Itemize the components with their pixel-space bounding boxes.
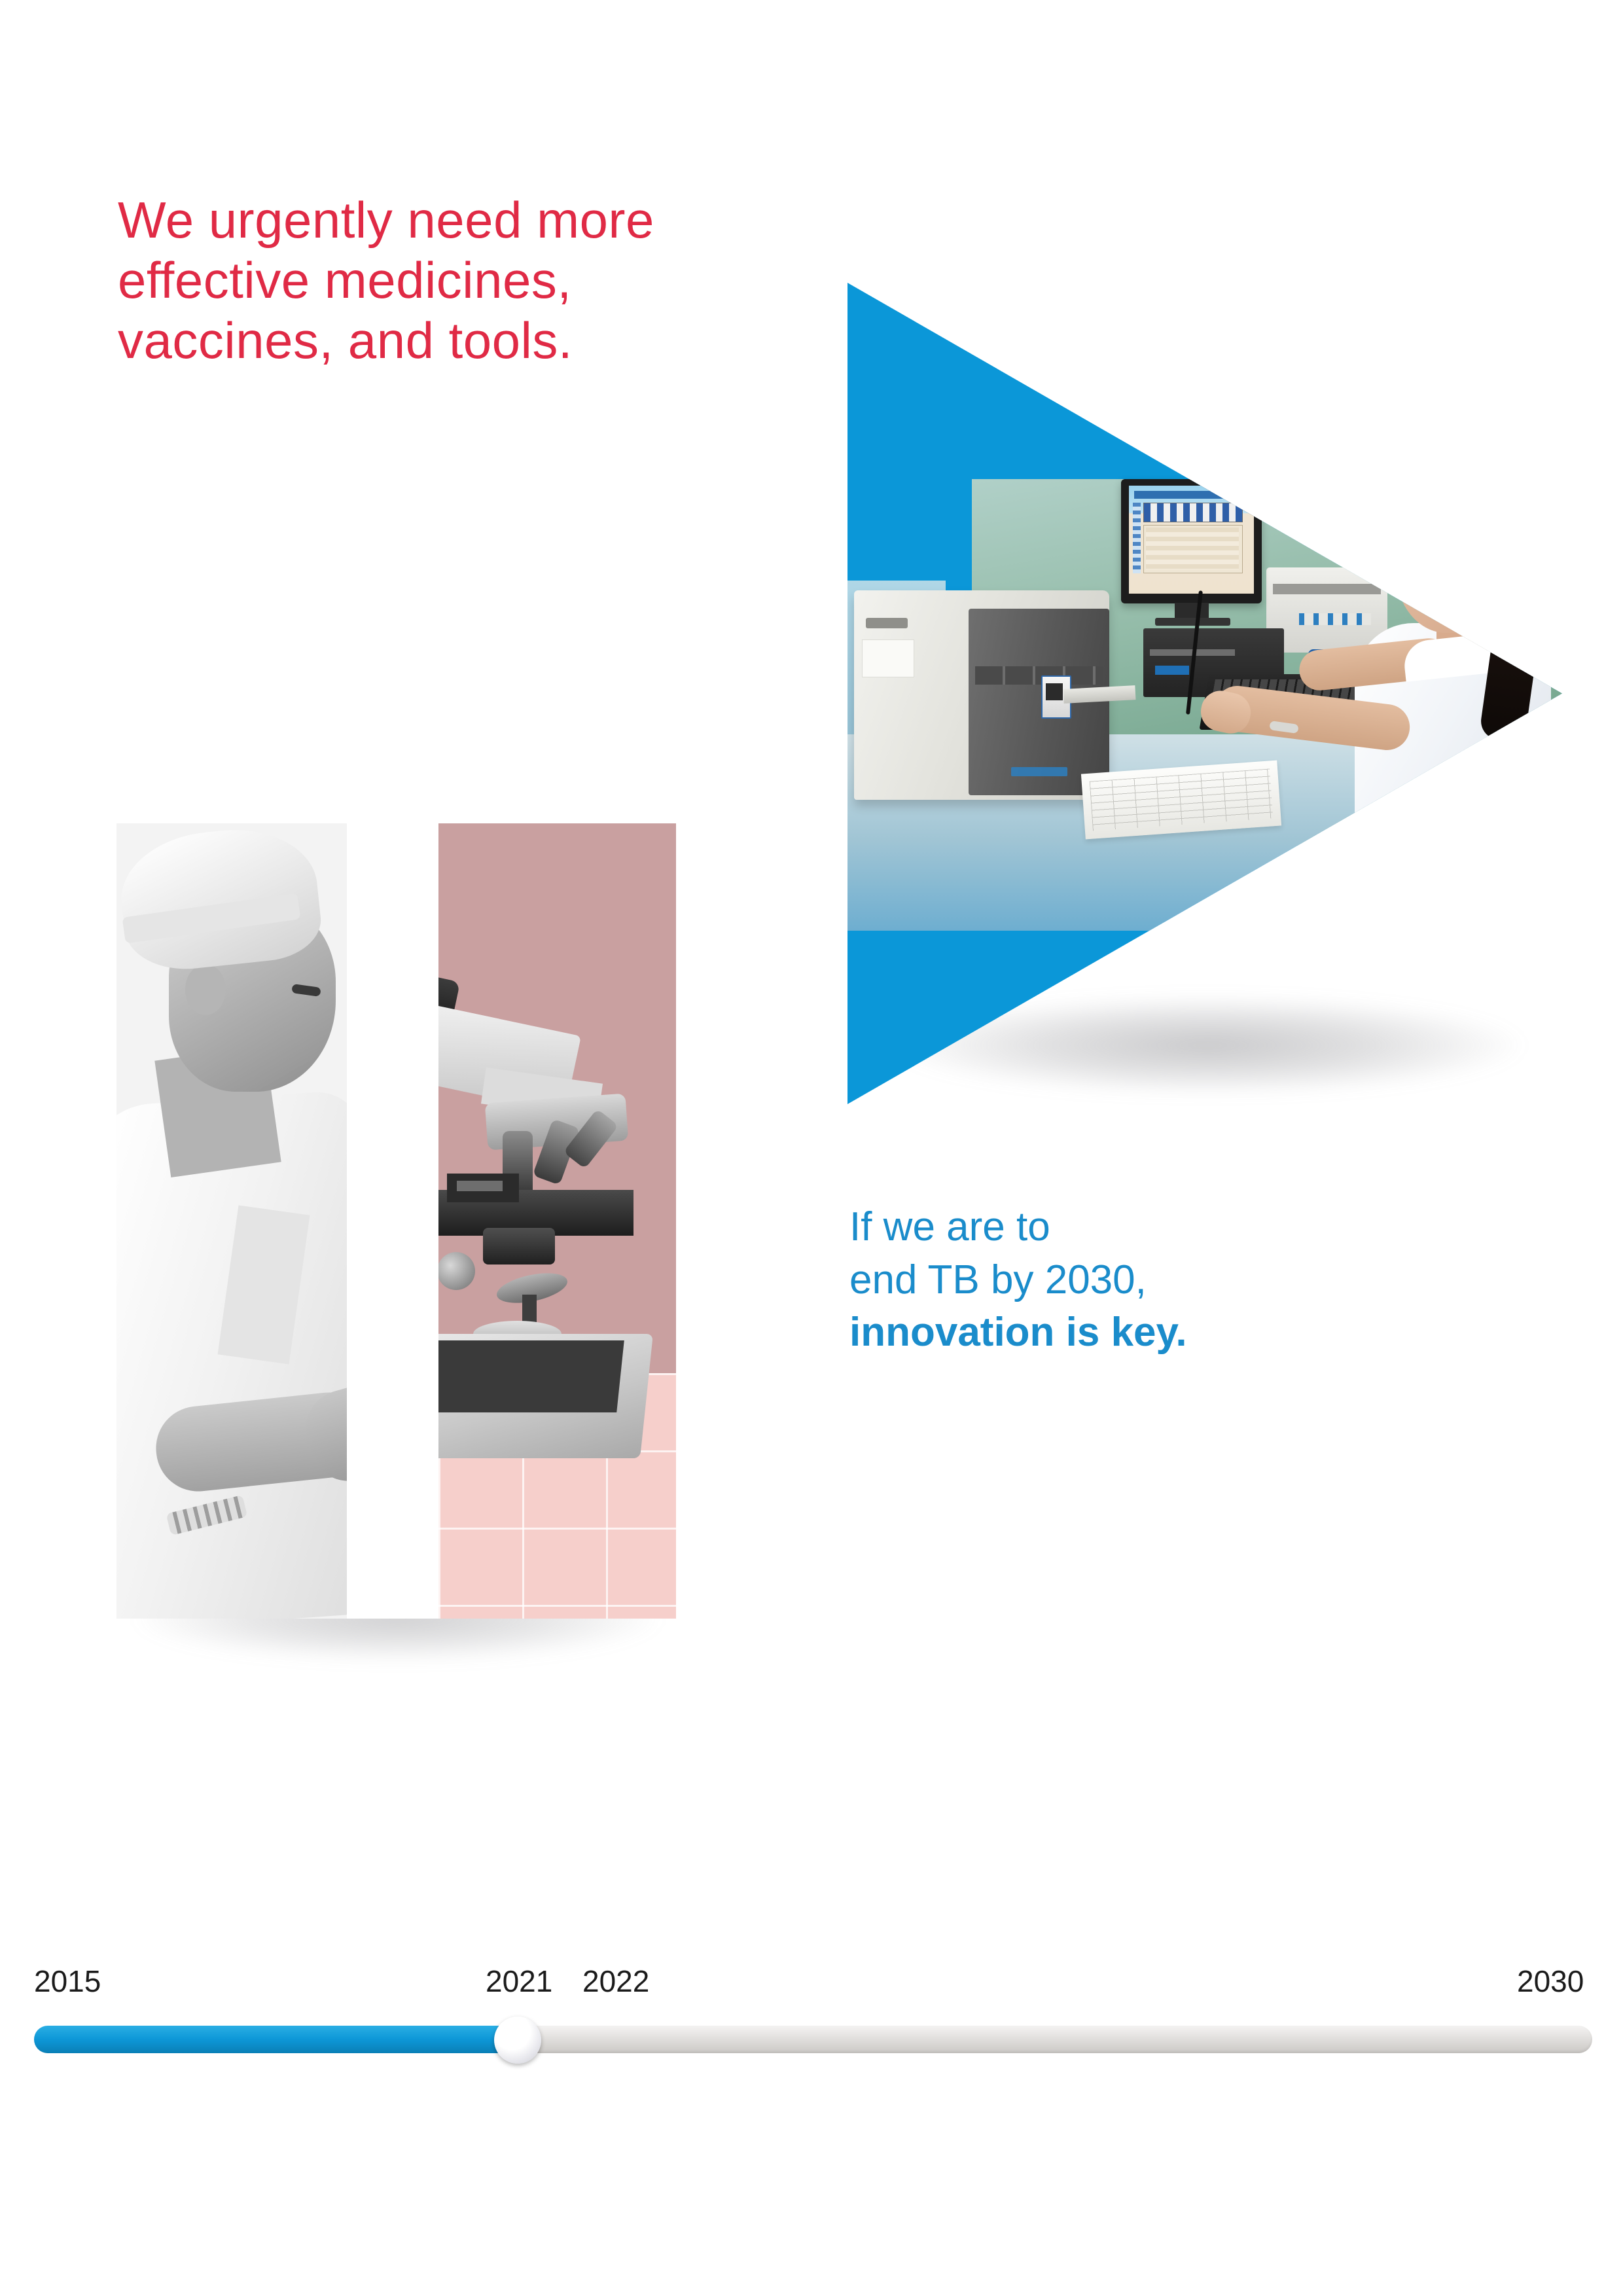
subheadline-line-1: If we are to <box>849 1201 1504 1254</box>
triangle-clip <box>847 283 1562 1104</box>
software-assay-grid <box>1143 503 1243 522</box>
monitor-base <box>1155 618 1230 626</box>
white-lower-strip <box>347 1527 438 1619</box>
genexpert-cartridge-slots <box>975 666 1103 685</box>
lab-technician-triangle-photo <box>847 283 1562 1104</box>
lab-scene <box>847 283 1562 1104</box>
software-sidebar <box>1133 503 1141 573</box>
headline-line-1: We urgently need more <box>118 190 838 250</box>
software-result-rows <box>1146 528 1239 569</box>
headline-line-3: vaccines, and tools. <box>118 310 838 370</box>
cartridge-barcode <box>1046 683 1063 700</box>
subheadline-line-3: innovation is key. <box>849 1306 1504 1359</box>
poster-canvas: We urgently need more effective medicine… <box>0 0 1623 2296</box>
timeline-progress-fill <box>34 2026 518 2053</box>
technician-hair <box>1388 479 1522 610</box>
slide-clip <box>457 1181 503 1191</box>
computer-badge <box>1155 666 1189 675</box>
timeline-labels: 2015 2021 2022 2030 <box>0 1964 1623 2081</box>
software-title-bar <box>1134 491 1249 499</box>
headline-line-2: effective medicines, <box>118 250 838 310</box>
technician-hair-front <box>1388 490 1460 550</box>
technician-ponytail <box>1478 543 1551 744</box>
microscope-photo-frame <box>116 823 347 1619</box>
subheadline: If we are to end TB by 2030, innovation … <box>849 1201 1504 1359</box>
health-worker-figure <box>116 823 347 1619</box>
worker-ear <box>185 964 226 1015</box>
page-title: We urgently need more effective medicine… <box>118 190 838 370</box>
printer-slot <box>1273 584 1381 594</box>
timeline-label-2030: 2030 <box>1517 1964 1584 1999</box>
genexpert-brand-mark <box>1011 767 1067 776</box>
focus-knob-small <box>437 1252 475 1290</box>
timeline-label-2015: 2015 <box>34 1964 101 1999</box>
timeline-slider-handle[interactable] <box>494 2017 541 2064</box>
timeline-label-2021: 2021 <box>486 1964 552 1999</box>
subheadline-line-2: end TB by 2030, <box>849 1254 1504 1307</box>
genexpert-vent <box>866 618 908 628</box>
lab-printer <box>1266 567 1387 653</box>
microscope-photo-composition <box>116 823 676 1619</box>
microscope-condenser <box>483 1228 555 1265</box>
genexpert-label <box>862 639 914 677</box>
timeline-label-2022: 2022 <box>582 1964 649 1999</box>
white-gap-strip <box>347 823 438 1619</box>
printer-indicator-lights <box>1299 613 1371 625</box>
technician-face <box>1396 499 1506 633</box>
footer-bar: THE CLCK IS TICKING <box>0 2121 1623 2296</box>
